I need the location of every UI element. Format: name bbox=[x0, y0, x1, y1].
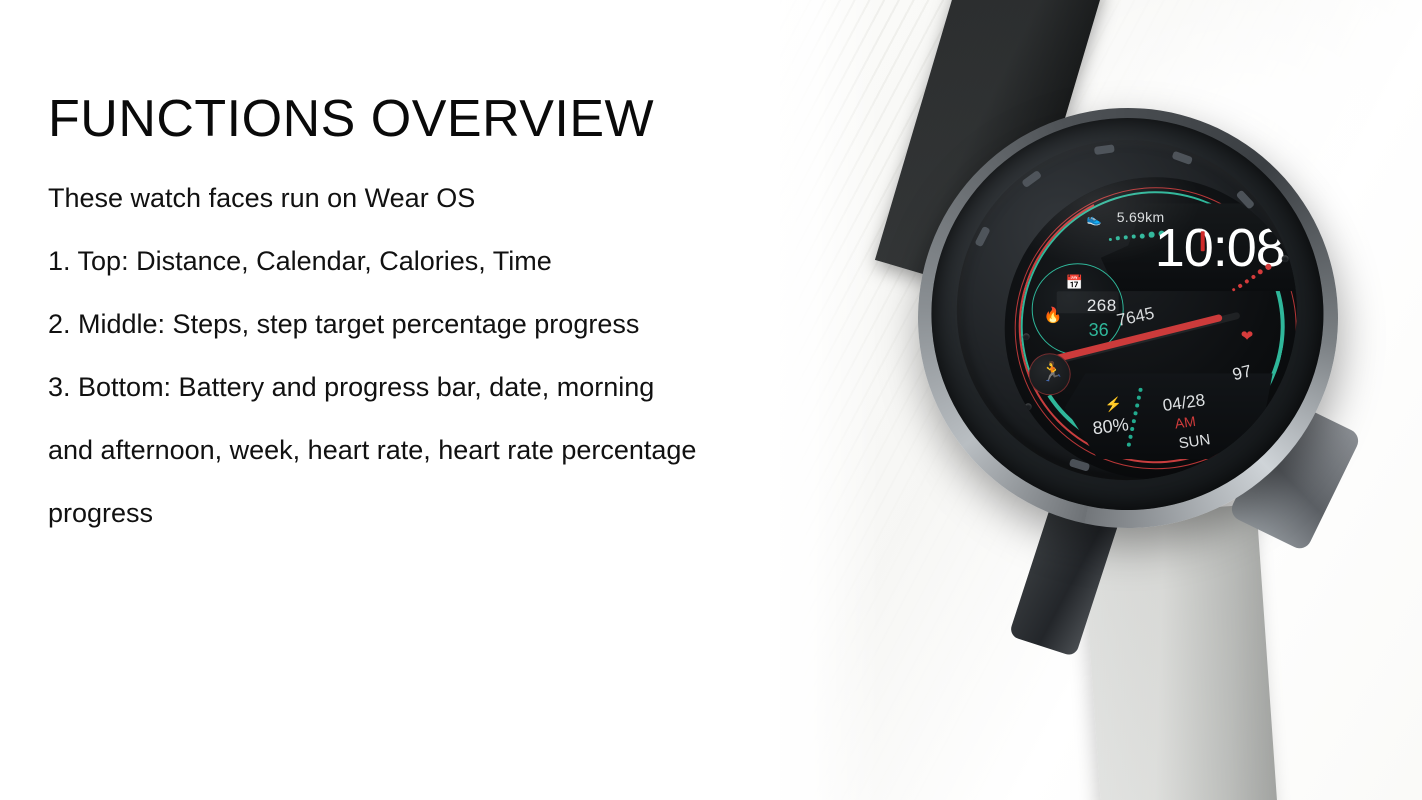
body-line-intro: These watch faces run on Wear OS bbox=[48, 185, 888, 212]
watch-photo: 👟 5.69km 10:08 bbox=[860, 0, 1420, 800]
watch-bezel: 👟 5.69km 10:08 bbox=[935, 118, 1319, 502]
bezel-tick bbox=[1172, 151, 1194, 165]
heart-icon: ❤ bbox=[1241, 329, 1254, 344]
lightning-bolt-icon: ⚡ bbox=[1105, 397, 1122, 411]
distance-icon: 👟 bbox=[1087, 213, 1102, 225]
bezel-tick bbox=[974, 226, 990, 247]
body-line-bottom-cont: and afternoon, week, heart rate, heart r… bbox=[48, 437, 888, 464]
face-bottom-plate bbox=[1065, 373, 1273, 459]
bezel-tick bbox=[1021, 170, 1042, 188]
calendar-icon: 📅 bbox=[1066, 275, 1083, 289]
page-title: FUNCTIONS OVERVIEW bbox=[48, 92, 888, 147]
bezel-tick bbox=[1094, 144, 1115, 155]
watch-screen[interactable]: 👟 5.69km 10:08 bbox=[1005, 177, 1307, 479]
body-line-bottom: 3. Bottom: Battery and progress bar, dat… bbox=[48, 374, 888, 401]
running-person-icon: 🏃 bbox=[1041, 363, 1065, 382]
slide-canvas: 👟 5.69km 10:08 bbox=[0, 0, 1422, 800]
text-content: FUNCTIONS OVERVIEW These watch faces run… bbox=[48, 92, 888, 563]
face-screw-dot bbox=[1282, 255, 1289, 262]
meridiem-value: AM bbox=[1174, 413, 1197, 432]
face-screw-dot bbox=[1023, 333, 1030, 340]
body-line-middle: 2. Middle: Steps, step target percentage… bbox=[48, 311, 888, 338]
watch-strap-bottom bbox=[1081, 504, 1280, 800]
body-line-bottom-cont2: progress bbox=[48, 500, 888, 527]
body-line-top: 1. Top: Distance, Calendar, Calories, Ti… bbox=[48, 248, 888, 275]
face-screw-dot bbox=[1025, 403, 1032, 410]
time-colon-separator bbox=[1201, 231, 1205, 251]
workout-button[interactable]: 🏃 bbox=[1029, 353, 1071, 395]
calories-secondary-value: 36 bbox=[1033, 320, 1109, 341]
battery-value: 80% bbox=[1092, 414, 1130, 439]
